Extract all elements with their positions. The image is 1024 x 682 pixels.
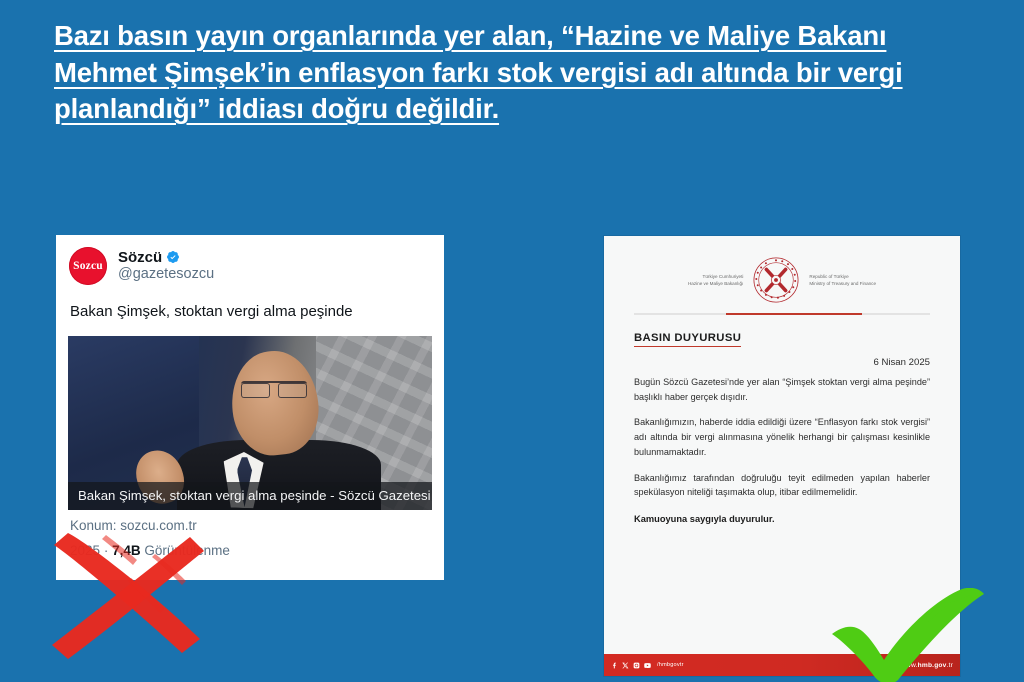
tweet-date: 2025 — [70, 543, 100, 558]
avatar: Sozcu — [69, 247, 107, 285]
document-closing: Kamuoyuna saygıyla duyurulur. — [634, 514, 930, 524]
tweet-identity: Sözcü @gazetesozcu — [118, 249, 214, 284]
tweet-media-image[interactable]: Bakan Şimşek, stoktan vergi alma peşinde… — [68, 336, 432, 510]
document-date: 6 Nisan 2025 — [634, 357, 930, 368]
letterhead: Türkiye Cumhuriyeti Hazine ve Maliye Bak… — [634, 252, 930, 304]
document-paragraph-1: Bugün Sözcü Gazetesi’nde yer alan “Şimşe… — [634, 375, 930, 404]
x-icon[interactable] — [622, 662, 629, 669]
document-title: BASIN DUYURUSU — [634, 332, 741, 347]
tweet-handle: @gazetesozcu — [118, 266, 214, 283]
instagram-icon[interactable] — [633, 662, 640, 669]
letterhead-tr-line2: Hazine ve Maliye Bakanlığı — [688, 280, 743, 287]
document-paragraph-3: Bakanlığımız tarafından doğruluğu teyit … — [634, 471, 930, 500]
letterhead-tr-line1: Türkiye Cumhuriyeti — [688, 273, 743, 280]
facebook-icon[interactable] — [611, 662, 618, 669]
tweet-view-count: 7,4B — [112, 543, 141, 558]
photo-figure-glasses — [241, 381, 307, 394]
tweet-location: Konum: sozcu.com.tr — [56, 510, 444, 533]
footer-social-links: /hmbgovtr — [611, 662, 684, 669]
letterhead-en-line1: Republic of Türkiye — [809, 273, 876, 280]
tweet-text: Bakan Şimşek, stoktan vergi alma peşinde — [56, 285, 444, 336]
press-release-document: Türkiye Cumhuriyeti Hazine ve Maliye Bak… — [604, 236, 960, 676]
letterhead-en-line2: Ministry of Treasury and Finance — [809, 280, 876, 287]
footer-handle: /hmbgovtr — [657, 662, 684, 668]
turkiye-ministry-emblem-icon — [752, 256, 800, 304]
footer-url-prefix: www. — [901, 662, 918, 669]
tweet-header: Sozcu Sözcü @gazetesozcu — [56, 235, 444, 285]
tweet-view-label: Görüntülenme — [144, 543, 230, 558]
tweet-stats: 2025 · 7,4B Görüntülenme — [56, 533, 444, 558]
youtube-icon[interactable] — [644, 662, 651, 669]
tweet-card: Sozcu Sözcü @gazetesozcu Bakan Şimşek, s… — [56, 235, 444, 580]
letterhead-turkish: Türkiye Cumhuriyeti Hazine ve Maliye Bak… — [688, 273, 743, 288]
footer-url-suffix: .tr — [947, 662, 953, 669]
tweet-display-name: Sözcü — [118, 249, 162, 267]
document-paragraph-2: Bakanlığımızın, haberde iddia edildiği ü… — [634, 415, 930, 459]
footer-url[interactable]: www.hmb.gov.tr — [901, 662, 953, 669]
verified-badge-icon — [166, 250, 180, 264]
doc-title-wrap: BASIN DUYURUSU — [634, 315, 930, 347]
page-title: Bazı basın yayın organlarında yer alan, … — [54, 18, 984, 128]
document-footer: /hmbgovtr www.hmb.gov.tr — [604, 654, 960, 676]
footer-url-main: hmb.gov — [918, 662, 947, 669]
avatar-label: Sozcu — [73, 260, 103, 272]
letterhead-english: Republic of Türkiye Ministry of Treasury… — [809, 273, 876, 288]
media-caption: Bakan Şimşek, stoktan vergi alma peşinde… — [68, 482, 432, 510]
tweet-stats-separator: · — [104, 543, 109, 558]
